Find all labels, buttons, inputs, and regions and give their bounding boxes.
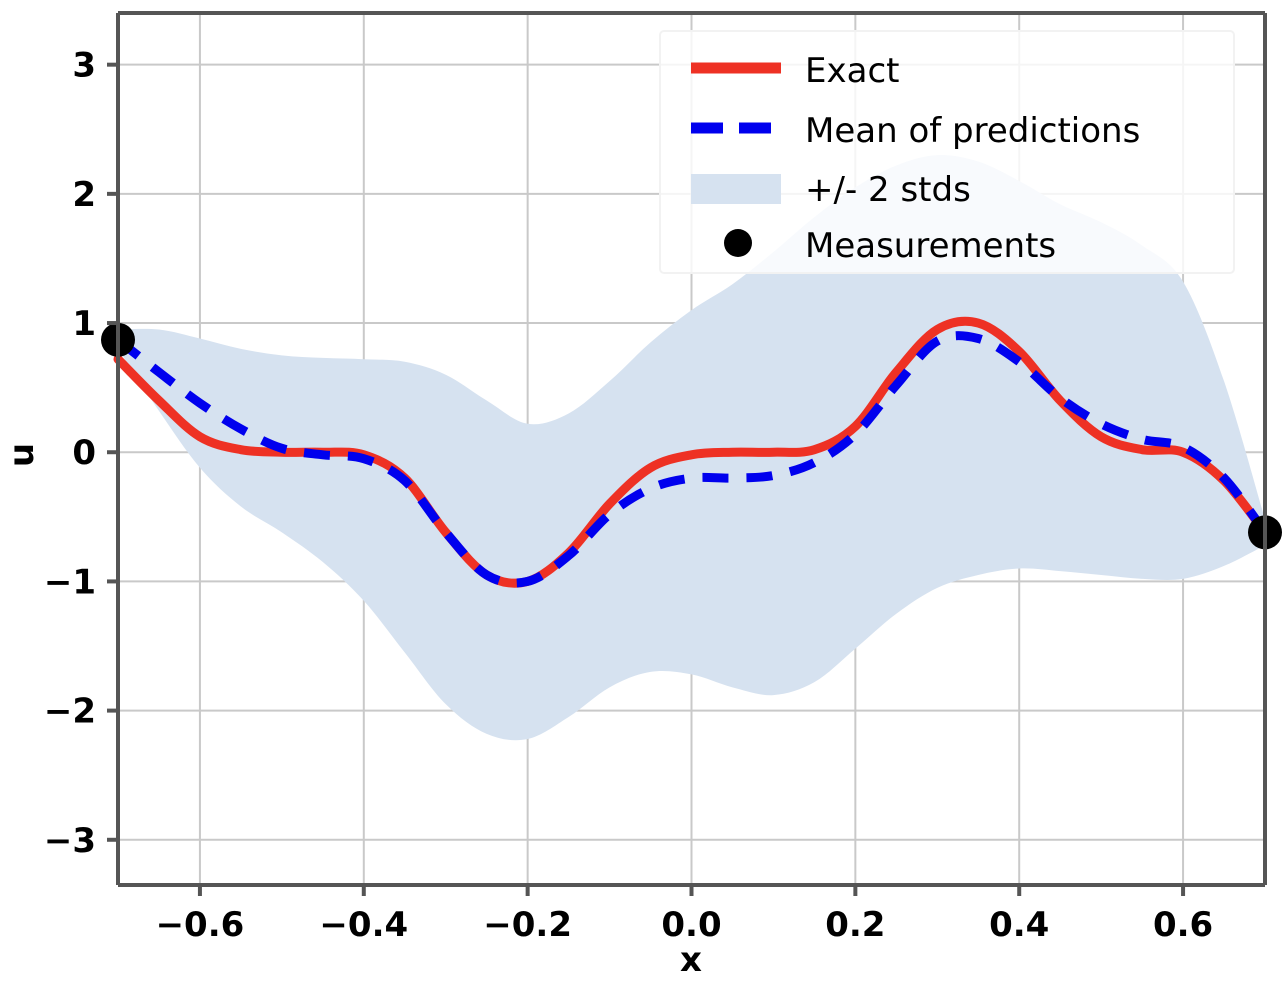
y-tick-label: 2 (72, 175, 96, 215)
x-tick-label: −0.2 (483, 905, 572, 945)
y-tick-label: 0 (72, 433, 96, 473)
y-tick-label: −2 (44, 692, 96, 732)
x-axis-title: x (680, 940, 702, 980)
x-tick-label: −0.6 (156, 905, 245, 945)
y-tick-label: −3 (44, 821, 96, 861)
x-tick-label: 0.0 (661, 905, 721, 945)
legend-label-mean-of-predictions: Mean of predictions (805, 111, 1140, 151)
y-tick-label: 1 (72, 304, 96, 344)
line-chart: −0.6−0.4−0.20.00.20.40.6 −3−2−10123 x u … (0, 0, 1288, 994)
x-tick-label: −0.4 (319, 905, 408, 945)
figure-canvas: −0.6−0.4−0.20.00.20.40.6 −3−2−10123 x u … (0, 0, 1288, 994)
x-tick-label: 0.4 (989, 905, 1049, 945)
y-axis-title: u (2, 443, 42, 467)
legend-label-two-stds: +/- 2 stds (805, 170, 971, 210)
legend-entry-two-stds[interactable]: +/- 2 stds (691, 170, 971, 210)
x-axis-tick-labels: −0.6−0.4−0.20.00.20.40.6 (156, 905, 1214, 945)
chart-legend: Exact Mean of predictions +/- 2 stds Mea… (660, 31, 1234, 273)
legend-label-measurements: Measurements (805, 226, 1056, 266)
y-tick-label: −1 (44, 562, 96, 602)
y-axis-tick-labels: −3−2−10123 (44, 46, 96, 861)
x-tick-label: 0.6 (1153, 905, 1213, 945)
legend-swatch-patch-icon (691, 174, 781, 204)
legend-label-exact: Exact (805, 51, 899, 91)
y-tick-label: 3 (72, 46, 96, 86)
x-tick-label: 0.2 (825, 905, 885, 945)
legend-swatch-dot-icon (724, 229, 752, 257)
